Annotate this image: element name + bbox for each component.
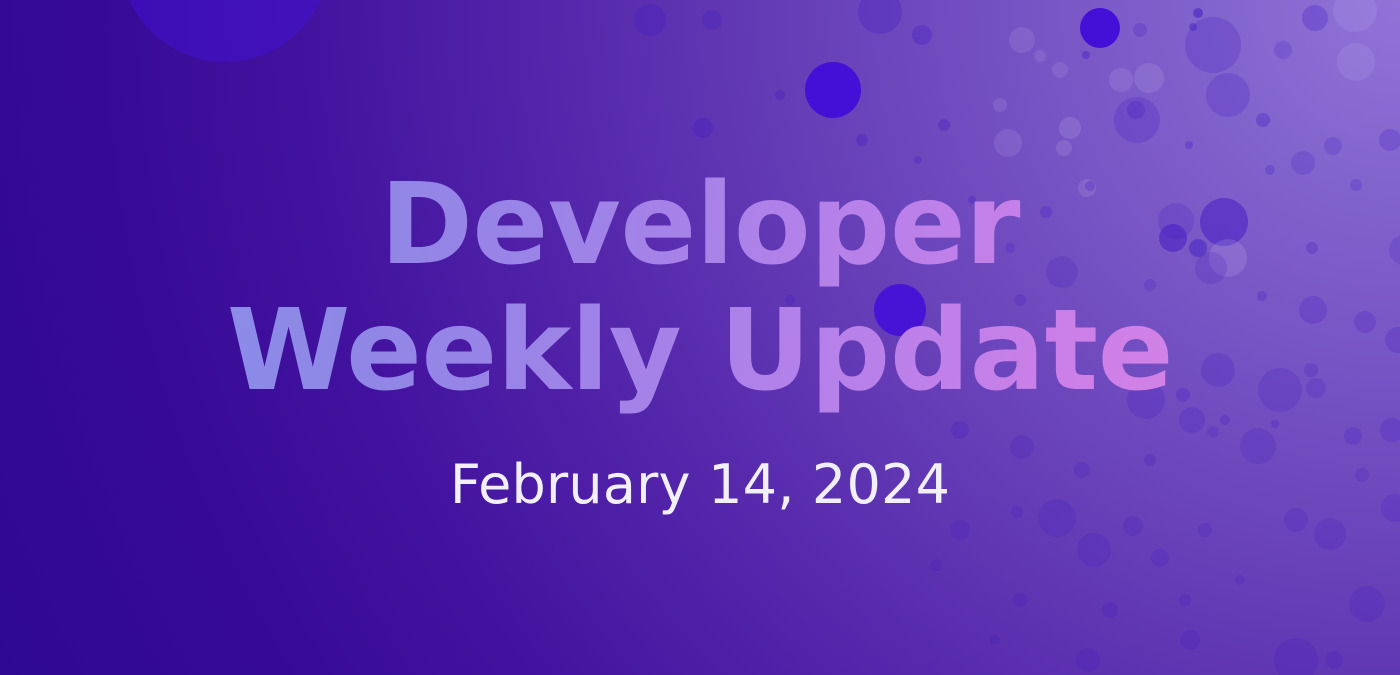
- page-title: Developer Weekly Update: [227, 163, 1173, 414]
- title-line-2: Weekly Update: [227, 289, 1173, 414]
- slide-date: February 14, 2024: [450, 458, 950, 512]
- title-line-1: Developer: [227, 163, 1173, 288]
- slide-content: Developer Weekly Update February 14, 202…: [0, 0, 1400, 675]
- title-slide: Developer Weekly Update February 14, 202…: [0, 0, 1400, 675]
